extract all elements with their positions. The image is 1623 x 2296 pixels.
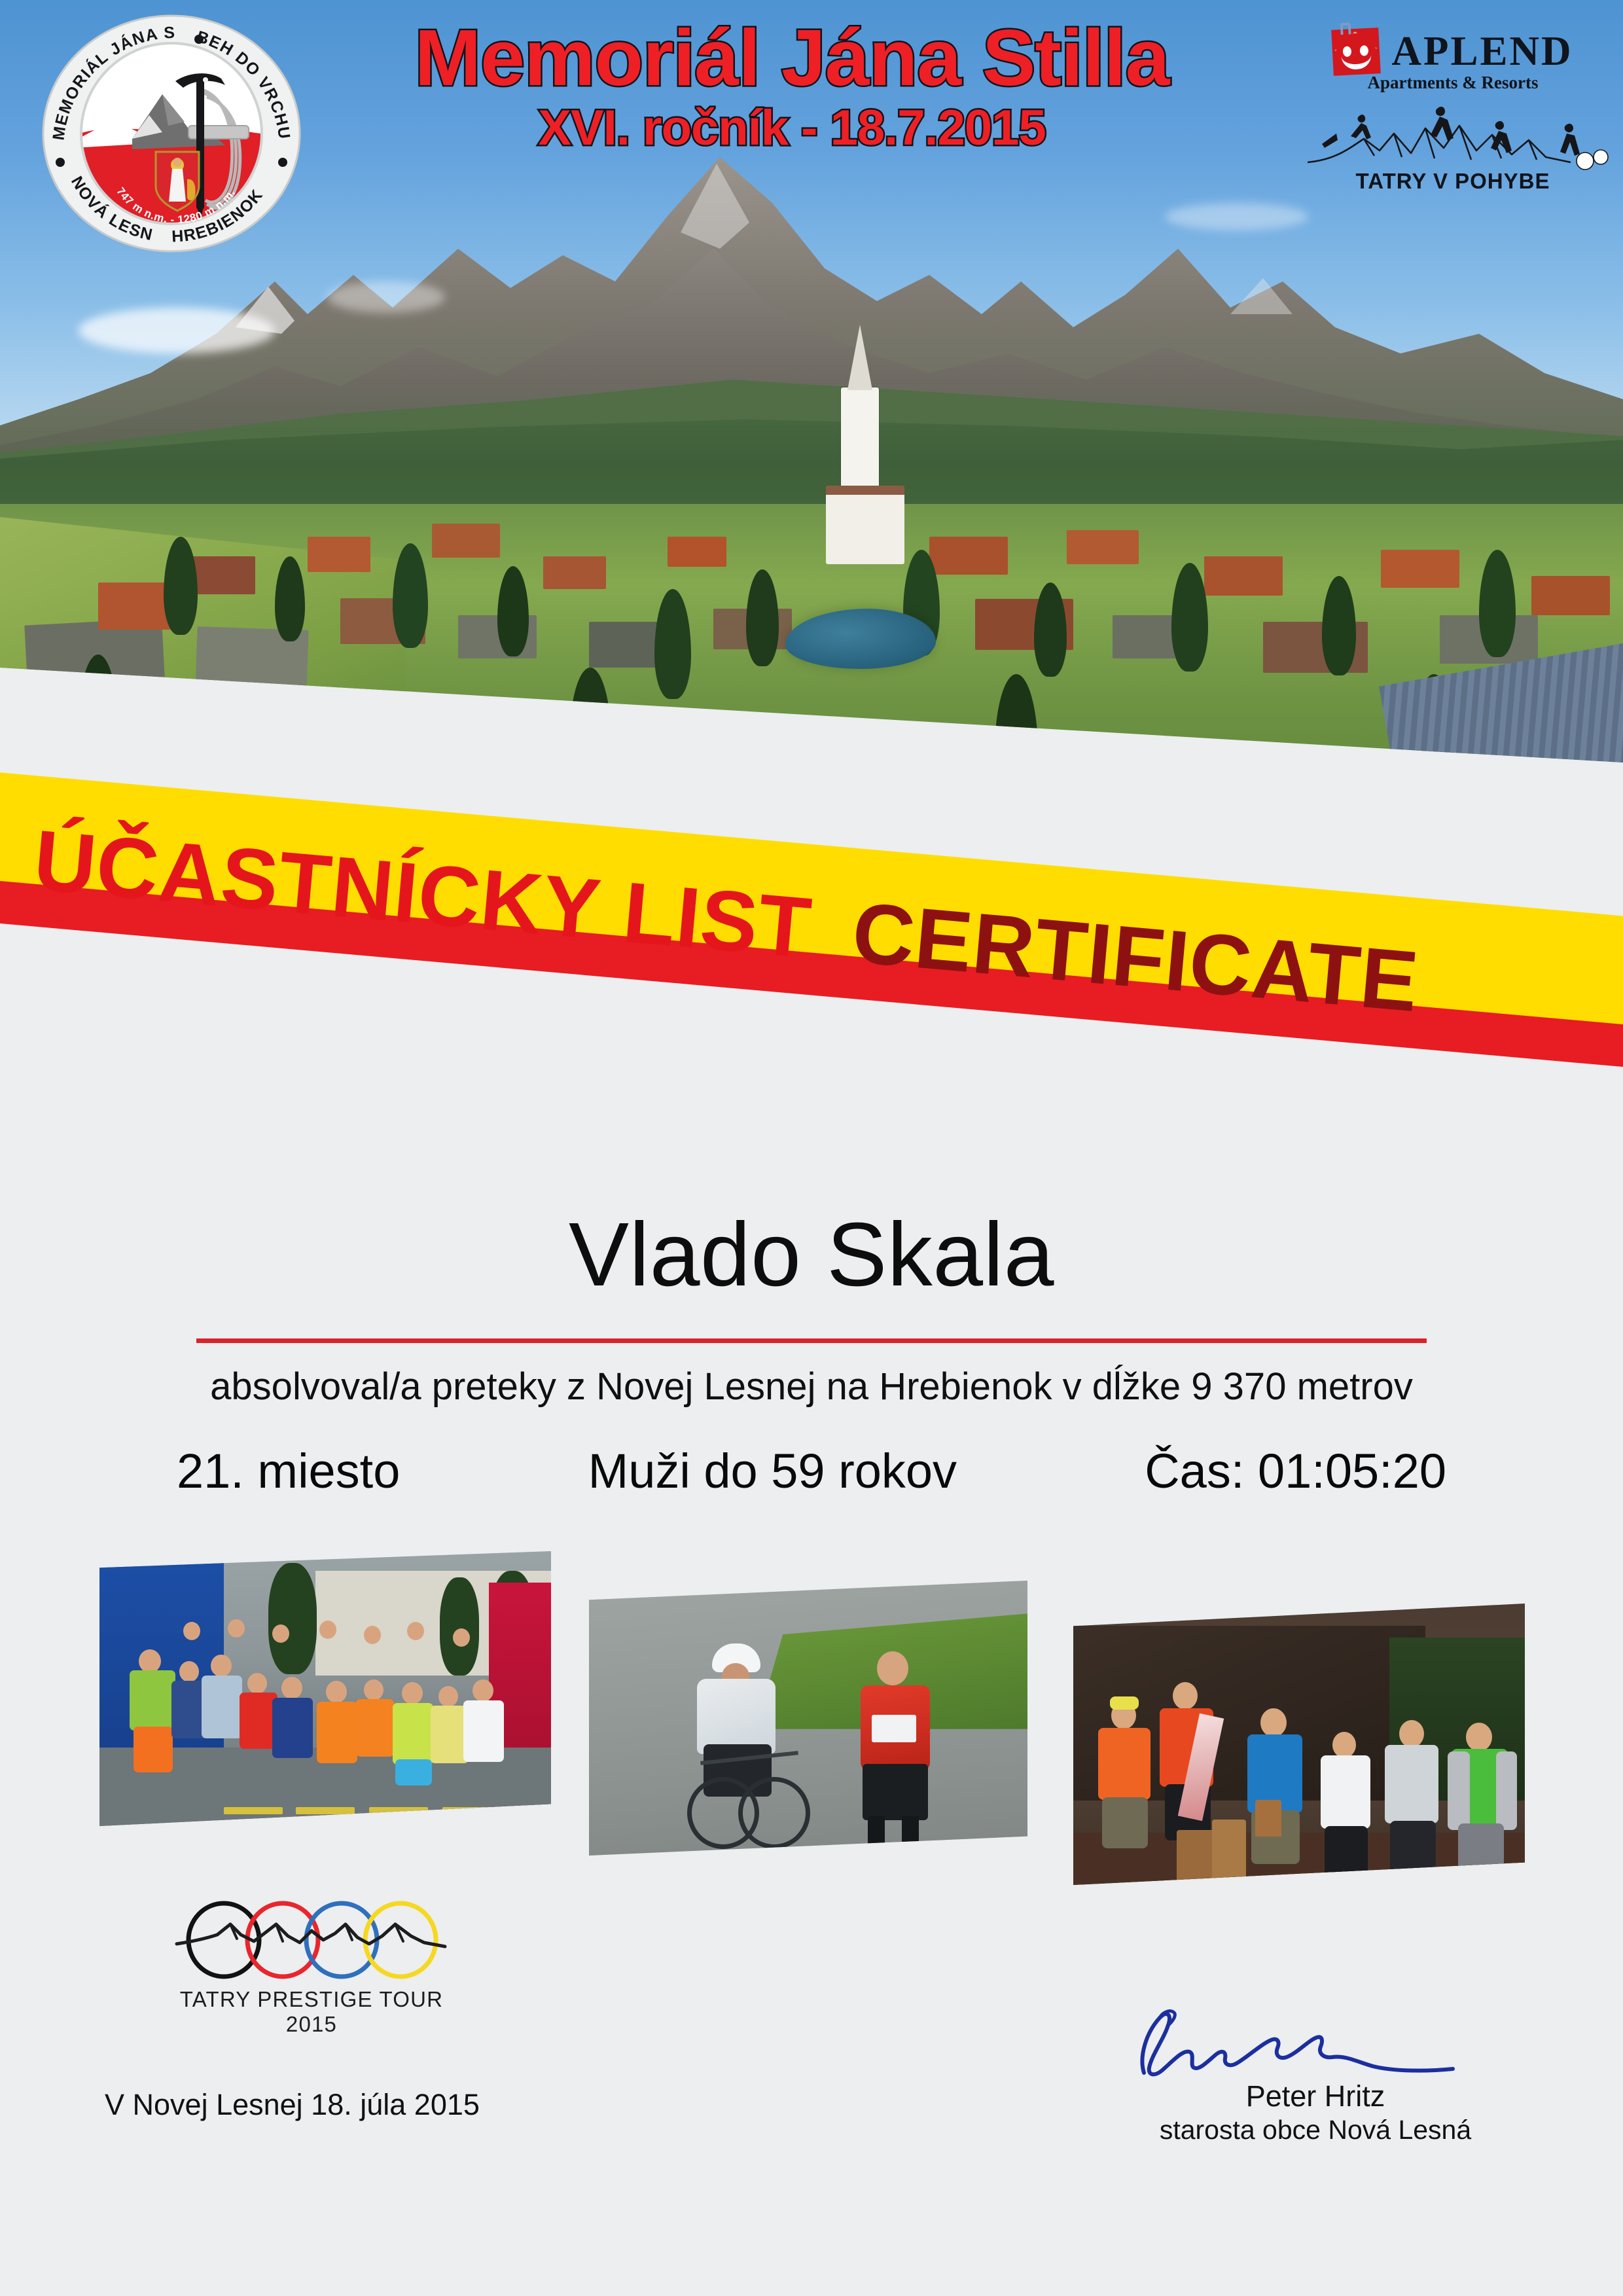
sponsor-logos: APLEND Apartments & Resorts xyxy=(1296,27,1610,194)
church-nave xyxy=(826,486,904,564)
tatry-prestige-tour-logo: TATRY PRESTIGE TOUR 2015 xyxy=(154,1898,469,2037)
tatry-prestige-tour-label: TATRY PRESTIGE TOUR 2015 xyxy=(154,1987,469,2037)
signature-name: Peter Hritz xyxy=(1086,2079,1544,2113)
award-ceremony-photo xyxy=(1073,1604,1525,1885)
cloud-wisp xyxy=(79,308,275,353)
mountain-ridge-line xyxy=(177,1924,445,1946)
cloud-wisp xyxy=(1165,203,1309,230)
aplend-tagline: Apartments & Resorts xyxy=(1296,73,1610,93)
aplend-wordmark: APLEND xyxy=(1391,27,1573,75)
result-time: Čas: 01:05:20 xyxy=(1145,1443,1446,1499)
cloud-wisp xyxy=(327,281,445,313)
place-and-date: V Novej Lesnej 18. júla 2015 xyxy=(105,2088,480,2122)
tatry-v-pohybe-wordmark: TATRY V POHYBE xyxy=(1296,169,1610,194)
result-place: 21. miesto xyxy=(177,1443,400,1499)
event-subtitle: XVI. ročník - 18.7.2015 xyxy=(366,99,1217,156)
signature-role: starosta obce Nová Lesná xyxy=(1086,2115,1544,2145)
result-category: Muži do 59 rokov xyxy=(588,1443,957,1499)
aplend-house-icon xyxy=(1332,27,1382,76)
event-title-block: Memoriál Jána Stilla XVI. ročník - 18.7.… xyxy=(366,17,1217,157)
race-description: absolvoval/a preteky z Novej Lesnej na H… xyxy=(0,1365,1623,1408)
cyclist-and-runner-photo xyxy=(589,1581,1027,1856)
event-emblem-logo: MEMORIÁL JÁNA STILLA BEH DO VRCHU NOVÁ L… xyxy=(34,10,309,253)
tatry-v-pohybe-logo: TATRY V POHYBE xyxy=(1296,102,1610,194)
event-title: Memoriál Jána Stilla xyxy=(366,17,1217,98)
race-start-photo xyxy=(99,1551,551,1826)
result-summary-row: 21. miesto Muži do 59 rokov Čas: 01:05:2… xyxy=(177,1443,1446,1499)
certificate-banner-text: ÚČASTNÍCKY LIST CERTIFICATE xyxy=(29,804,1604,1053)
signature-block: Peter Hritz starosta obce Nová Lesná xyxy=(1086,2000,1544,2145)
signature-mark xyxy=(1086,2000,1544,2085)
aplend-logo: APLEND xyxy=(1296,27,1610,75)
certificate-page: MEMORIÁL JÁNA STILLA BEH DO VRCHU NOVÁ L… xyxy=(0,0,1623,2296)
recipient-name: Vlado Skala xyxy=(0,1203,1623,1307)
divider-rule xyxy=(196,1338,1427,1343)
